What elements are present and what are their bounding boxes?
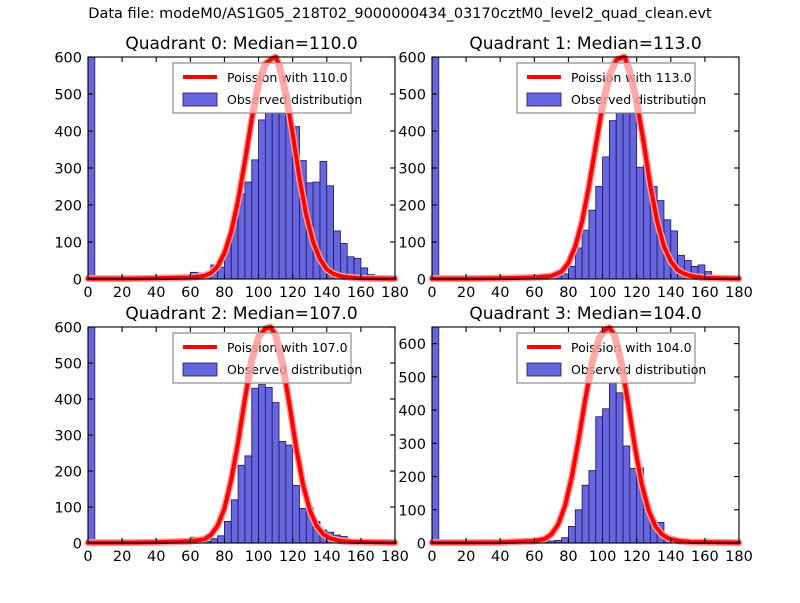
histogram-bar [299,508,306,543]
histogram-bar [259,385,266,543]
histogram-bar [224,521,231,543]
histogram-bar [252,388,259,543]
y-tick-label: 0 [417,273,426,289]
x-tick-label: 140 [657,285,685,301]
x-tick-label: 140 [313,285,341,301]
histogram-bar [603,157,610,279]
legend-label-poisson: Poission with 104.0 [571,340,692,355]
y-tick-label: 300 [54,429,82,445]
x-tick-label: 40 [147,549,165,565]
histogram-bar [293,485,300,543]
legend-patch-swatch [183,363,217,376]
histogram-bar [568,526,575,543]
legend-label-poisson: Poission with 110.0 [227,70,348,85]
x-tick-label: 20 [457,285,475,301]
x-tick-label: 100 [589,285,617,301]
plot-area-quadrant-3: Quadrant 3: Median=104.00204060801001201… [432,327,799,603]
histogram-bar [218,536,225,543]
y-tick-label: 0 [73,537,82,553]
x-tick-label: 180 [381,549,409,565]
y-tick-label: 100 [54,236,82,252]
y-tick-label: 200 [398,199,426,215]
x-tick-label: 140 [657,549,685,565]
x-tick-label: 160 [691,549,719,565]
histogram-bar [245,456,252,543]
histogram-bar [211,539,218,543]
histogram-bar [231,500,238,543]
x-tick-label: 20 [113,549,131,565]
histogram-bar [609,121,616,279]
subplot-quadrant-2: Quadrant 2: Median=107.00204060801001201… [88,327,395,543]
y-tick-label: 300 [398,162,426,178]
x-tick-label: 160 [691,285,719,301]
y-tick-label: 500 [54,88,82,104]
y-tick-label: 400 [54,125,82,141]
x-tick-label: 0 [83,285,92,301]
y-tick-label: 600 [54,51,82,67]
y-tick-label: 200 [398,470,426,486]
x-tick-label: 80 [215,285,233,301]
x-tick-label: 60 [525,285,543,301]
x-tick-label: 40 [491,549,509,565]
x-tick-label: 20 [113,285,131,301]
legend[interactable]: Poission with 110.0Observed distribution [173,63,362,113]
x-tick-label: 160 [347,285,375,301]
histogram-bar [589,471,596,543]
histogram-bar [582,485,589,543]
legend-label-poisson: Poission with 107.0 [227,340,348,355]
y-tick-label: 500 [398,88,426,104]
y-tick-label: 500 [54,357,82,373]
x-tick-label: 120 [279,549,307,565]
x-tick-label: 120 [279,285,307,301]
histogram-bar [575,510,582,543]
subplot-title: Quadrant 3: Median=104.0 [469,304,701,324]
y-tick-label: 0 [417,537,426,553]
histogram-bar [630,105,637,279]
x-tick-label: 100 [589,549,617,565]
legend[interactable]: Poission with 104.0Observed distribution [517,333,706,383]
y-tick-label: 0 [73,273,82,289]
subplot-quadrant-0: Quadrant 0: Median=110.00204060801001201… [88,57,395,279]
subplot-title: Quadrant 2: Median=107.0 [125,304,357,324]
plot-area-quadrant-1: Quadrant 1: Median=113.00204060801001201… [432,57,799,339]
y-tick-label: 600 [398,337,426,353]
y-tick-label: 300 [54,162,82,178]
matplotlib-figure: Data file: modeM0/AS1G05_218T02_90000004… [0,0,800,600]
subplot-title: Quadrant 0: Median=110.0 [125,34,357,54]
histogram-bar [286,445,293,543]
histogram-bar [432,327,439,543]
x-tick-label: 160 [347,549,375,565]
plot-area-quadrant-2: Quadrant 2: Median=107.00204060801001201… [88,327,455,603]
x-tick-label: 40 [147,285,165,301]
legend-patch-swatch [527,363,561,376]
x-tick-label: 100 [245,549,273,565]
histogram-bar [582,230,589,279]
x-tick-label: 60 [181,285,199,301]
histogram-bar [596,187,603,280]
legend-patch-swatch [527,93,561,106]
histogram-bar [245,182,252,279]
histogram-bar [252,160,259,279]
y-tick-label: 600 [54,321,82,337]
x-tick-label: 180 [381,285,409,301]
x-tick-label: 80 [215,549,233,565]
y-tick-label: 400 [398,404,426,420]
legend-label-observed: Observed distribution [227,92,362,107]
x-tick-label: 20 [457,549,475,565]
histogram-bar [265,94,272,279]
y-tick-label: 400 [398,125,426,141]
x-tick-label: 0 [83,549,92,565]
histogram-bar [259,120,266,279]
histogram-bar [630,469,637,543]
legend-patch-swatch [183,93,217,106]
x-tick-label: 80 [559,285,577,301]
histogram-bar [637,167,644,279]
x-tick-label: 40 [491,285,509,301]
histogram-bar [238,465,245,543]
histogram-bar [623,446,630,543]
figure-suptitle: Data file: modeM0/AS1G05_218T02_90000004… [0,6,800,22]
histogram-bar [279,441,286,543]
x-tick-label: 80 [559,549,577,565]
x-tick-label: 180 [725,549,753,565]
subplot-quadrant-1: Quadrant 1: Median=113.00204060801001201… [432,57,739,279]
x-tick-label: 60 [181,549,199,565]
y-tick-label: 600 [398,51,426,67]
x-tick-label: 100 [245,285,273,301]
y-tick-label: 100 [398,236,426,252]
y-tick-label: 200 [54,465,82,481]
histogram-bar [568,266,575,279]
y-tick-label: 200 [54,199,82,215]
y-tick-label: 300 [398,437,426,453]
y-tick-label: 100 [54,501,82,517]
y-tick-label: 100 [398,503,426,519]
histogram-bar [272,87,279,279]
y-tick-label: 500 [398,370,426,386]
histogram-bar [596,417,603,543]
subplot-title: Quadrant 1: Median=113.0 [469,34,701,54]
histogram-bar [589,210,596,279]
histogram-bar [272,403,279,543]
x-tick-label: 60 [525,549,543,565]
histogram-bar [609,378,616,543]
histogram-bar [313,182,320,279]
x-tick-label: 180 [725,285,753,301]
histogram-bar [265,387,272,543]
x-tick-label: 0 [427,285,436,301]
histogram-bar [562,538,569,543]
y-tick-label: 400 [54,393,82,409]
histogram-bar [603,409,610,543]
x-tick-label: 120 [623,285,651,301]
x-tick-label: 140 [313,549,341,565]
x-tick-label: 0 [427,549,436,565]
histogram-bar [616,102,623,279]
x-tick-label: 120 [623,549,651,565]
legend[interactable]: Poission with 107.0Observed distribution [173,333,362,383]
subplot-quadrant-3: Quadrant 3: Median=104.00204060801001201… [432,327,739,543]
histogram-bar [616,393,623,543]
